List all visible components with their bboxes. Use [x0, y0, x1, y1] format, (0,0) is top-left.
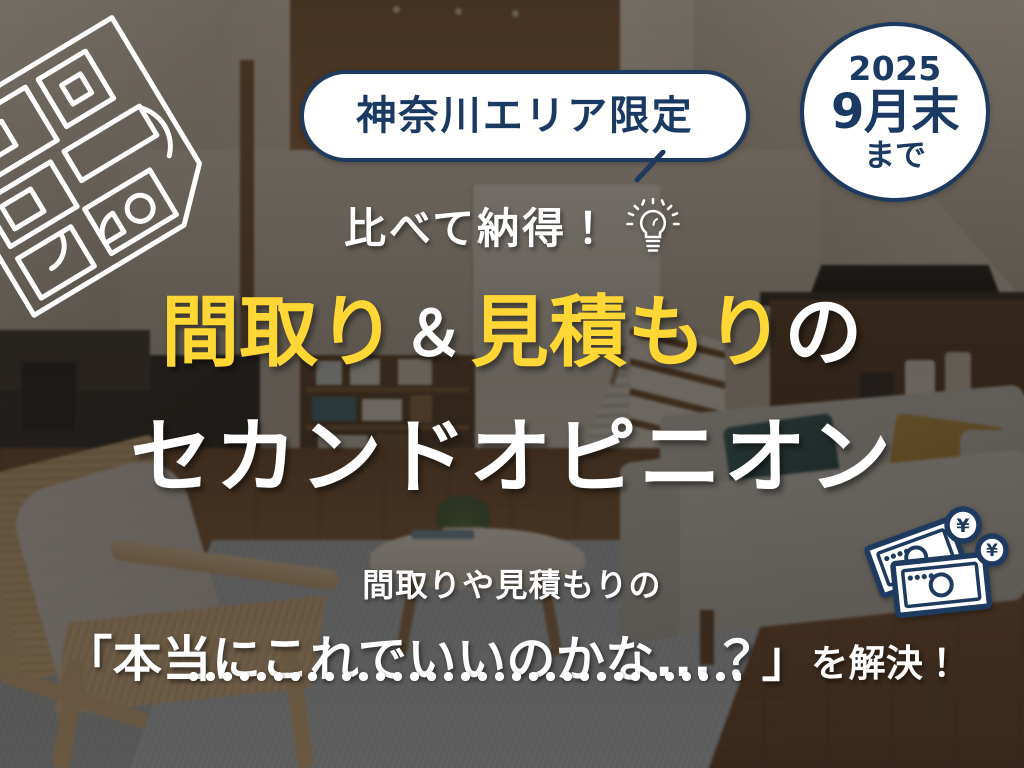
headline-line1-part4: の [784, 288, 862, 378]
deadline-month: 9月末 [831, 87, 959, 139]
deadline-until: まで [864, 141, 926, 172]
campaign-banner: 神奈川エリア限定 2025 9月末 まで 比べて納得！ [0, 0, 1024, 768]
headline-line1-part3: 見積もり [471, 288, 785, 378]
area-badge[interactable]: 神奈川エリア限定 [300, 70, 750, 162]
svg-text:¥: ¥ [956, 515, 969, 537]
headline-kicker: 比べて納得！ [0, 202, 1024, 256]
subcopy-tail: を解決！ [811, 642, 960, 685]
svg-text:¥: ¥ [986, 541, 998, 561]
kicker-text: 比べて納得！ [344, 208, 612, 250]
subcopy-dotted-underline [185, 672, 741, 681]
lightbulb-icon [626, 198, 680, 256]
headline-line1: 間取り＆見積もりの [0, 290, 1024, 377]
headline-line1-part1: 間取り [161, 288, 396, 378]
deadline-year: 2025 [848, 52, 941, 85]
money-bills-yen-icon: ¥ ¥ [855, 505, 1010, 625]
headline-line2: セカンドオピニオン [0, 412, 1024, 504]
headline-line1-amp: ＆ [396, 297, 470, 370]
speech-bubble-tail-icon [633, 150, 667, 184]
banner-foreground: 神奈川エリア限定 2025 9月末 まで 比べて納得！ [0, 0, 1024, 768]
deadline-badge[interactable]: 2025 9月末 まで [800, 22, 990, 202]
area-badge-label: 神奈川エリア限定 [356, 96, 694, 136]
